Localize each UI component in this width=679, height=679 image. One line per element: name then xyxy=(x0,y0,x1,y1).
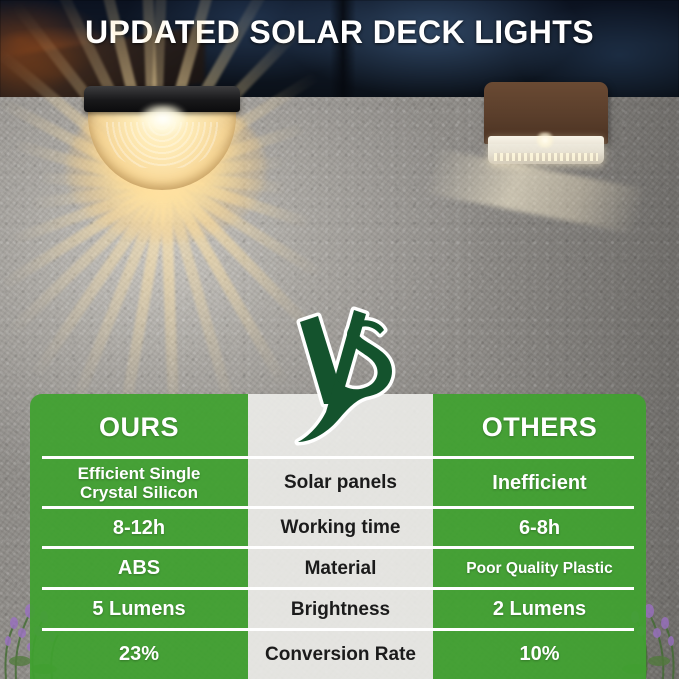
cell-feature-0: Solar panels xyxy=(248,458,433,508)
cell-ours-0: Efficient SingleCrystal Silicon xyxy=(30,458,248,508)
cell-line: Efficient Single xyxy=(78,464,201,483)
cell-others-2: Poor Quality Plastic xyxy=(433,548,646,589)
cell-feature-1: Working time xyxy=(248,508,433,548)
cell-ours-1: 8-12h xyxy=(30,508,248,548)
cell-feature-3: Brightness xyxy=(248,589,433,630)
cell-line: Crystal Silicon xyxy=(80,483,198,502)
competitor-lamp-bulb xyxy=(536,132,554,148)
table-header-ours: OURS xyxy=(30,396,248,458)
infographic-canvas: UPDATED SOLAR DECK LIGHTS xyxy=(0,0,679,679)
table-header-others: OTHERS xyxy=(433,396,646,458)
cell-others-0: Inefficient xyxy=(433,458,646,508)
cell-others-3: 2 Lumens xyxy=(433,589,646,630)
cell-ours-2: ABS xyxy=(30,548,248,589)
cell-ours-3: 5 Lumens xyxy=(30,589,248,630)
cell-others-1: 6-8h xyxy=(433,508,646,548)
ours-lamp-photo xyxy=(0,60,340,390)
cell-feature-4: Conversion Rate xyxy=(248,630,433,679)
vs-badge xyxy=(292,300,402,448)
lamp-hotspot xyxy=(140,104,186,134)
cell-others-4: 10% xyxy=(433,630,646,679)
cell-feature-2: Material xyxy=(248,548,433,589)
cell-ours-4: 23% xyxy=(30,630,248,679)
page-title: UPDATED SOLAR DECK LIGHTS xyxy=(0,14,679,51)
others-lamp-photo xyxy=(470,82,640,202)
